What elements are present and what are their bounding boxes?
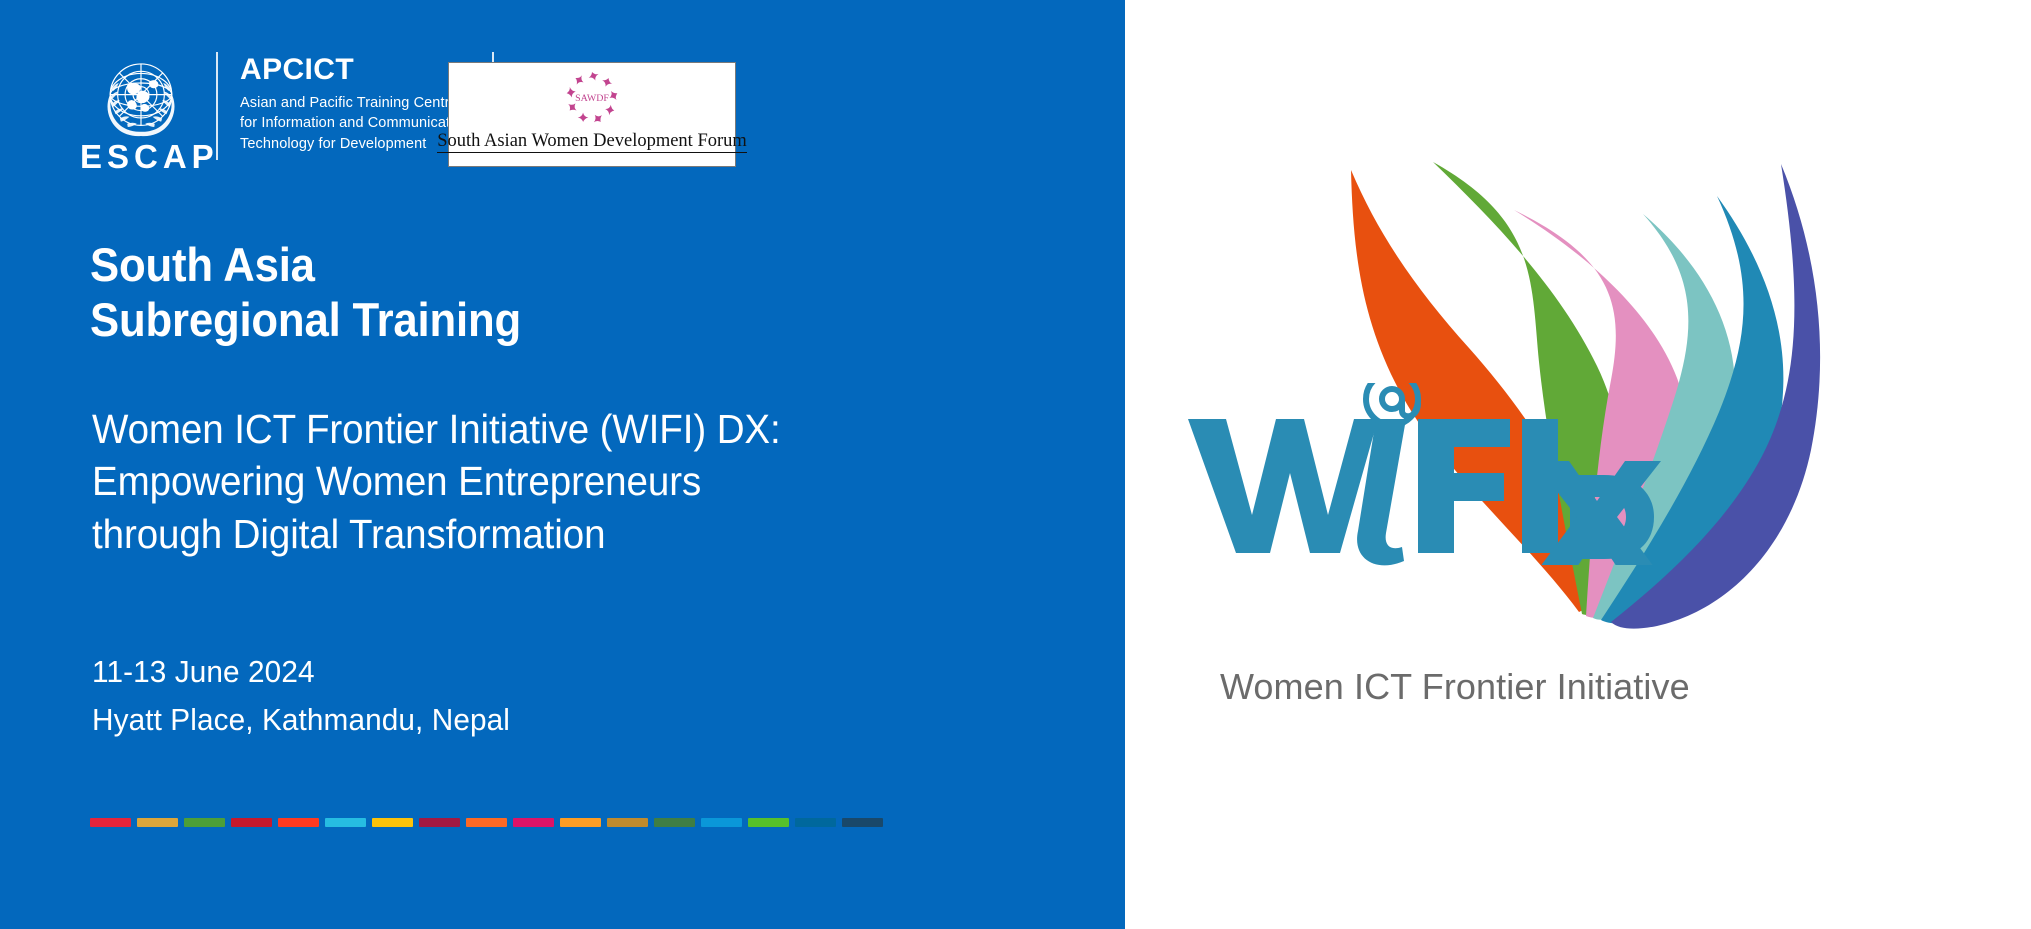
apcict-title: APCICT [240,54,470,86]
apcict-subtitle: Asian and Pacific Training Centre for In… [240,93,470,155]
sdg-color-segment-12 [607,818,648,827]
page-title: South Asia Subregional Training [90,238,521,348]
wifi-dx-x-glyph [1525,455,1675,565]
apcict-text-block: APCICT Asian and Pacific Training Centre… [240,48,470,160]
wifi-tagline: Women ICT Frontier Initiative [1220,666,1690,708]
sawdf-acronym-text: SAWDF [575,93,609,104]
sdg-color-segment-9 [466,818,507,827]
sdg-color-segment-16 [795,818,836,827]
sdg-color-segment-10 [513,818,554,827]
sdg-color-bar [90,818,883,827]
event-meta: 11-13 June 2024 Hyatt Place, Kathmandu, … [92,648,510,744]
poster-canvas: APCICT Asian and Pacific Training Centre… [0,0,2031,929]
sawdf-full-name: South Asian Women Development Forum [437,132,747,153]
wifi-dx-logo: Women ICT Frontier Initiative [1125,0,2031,929]
sdg-color-segment-4 [231,818,272,827]
page-subtitle: Women ICT Frontier Initiative (WIFI) DX:… [92,403,781,560]
sdg-color-segment-11 [560,818,601,827]
wifi-letter-f [1418,419,1510,553]
event-venue: Hyatt Place, Kathmandu, Nepal [92,696,510,744]
event-date: 11-13 June 2024 [92,648,510,696]
sdg-color-segment-8 [419,818,460,827]
sdg-color-segment-17 [842,818,883,827]
sdg-color-segment-2 [137,818,178,827]
sdg-color-segment-7 [372,818,413,827]
sdg-color-segment-6 [325,818,366,827]
sdg-color-segment-15 [748,818,789,827]
sdg-color-segment-1 [90,818,131,827]
sdg-color-segment-5 [278,818,319,827]
wifi-letter-w [1188,419,1378,553]
sawdf-partner-logo: SAWDF South Asian Women Development Foru… [448,62,736,167]
sawdf-circle-of-people-icon: SAWDF [549,66,635,132]
escap-wordmark: ESCAP [80,140,219,173]
sdg-color-segment-3 [184,818,225,827]
sdg-color-segment-14 [701,818,742,827]
sdg-color-segment-13 [654,818,695,827]
wifi-at-symbol [1366,383,1418,425]
